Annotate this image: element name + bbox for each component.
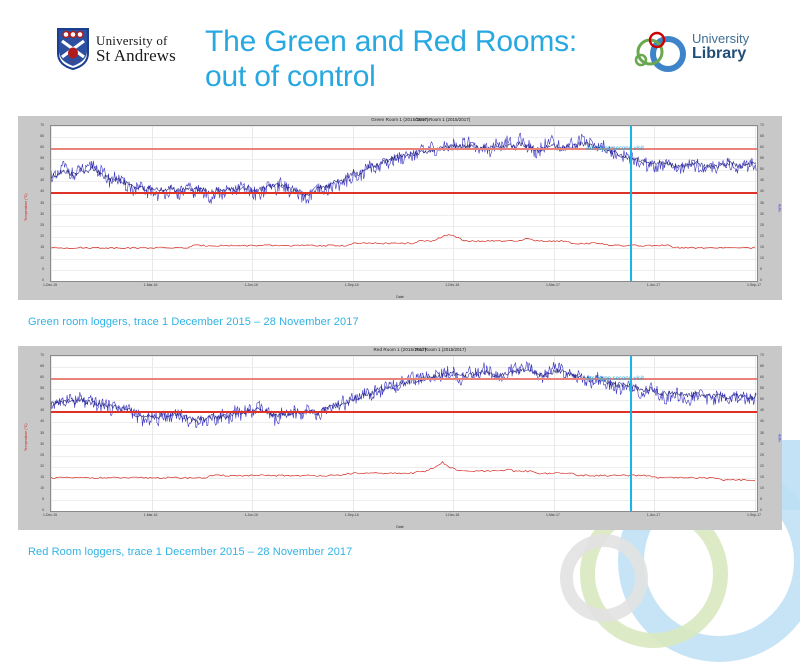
gridline-horizontal bbox=[51, 281, 757, 282]
y-axis-tick-label: 20 bbox=[18, 234, 44, 238]
y2-axis-tick-label: 15 bbox=[760, 475, 782, 479]
y-axis-tick-label: 60 bbox=[18, 145, 44, 149]
chart-panel-green-room: Green Room 1 (2015/2017) Green Room 1 (2… bbox=[18, 116, 782, 300]
x-axis-title: Date bbox=[18, 525, 782, 529]
x-axis-tick-label: 1-Jun-16 bbox=[244, 283, 257, 287]
x-axis-tick-label: 1-Sep-17 bbox=[747, 513, 761, 517]
y2-axis-tick-label: 20 bbox=[760, 464, 782, 468]
y2-axis-tick-label: 15 bbox=[760, 245, 782, 249]
annotation-label: Architype second visit bbox=[586, 376, 644, 382]
x-axis-tick-label: 1-Mar-17 bbox=[546, 513, 560, 517]
y-axis-tick-label: 35 bbox=[18, 201, 44, 205]
chart-title-green-room: Green Room 1 (2015/2017) bbox=[18, 117, 782, 122]
y-axis-tick-label: 45 bbox=[18, 178, 44, 182]
y-axis-tick-label: 20 bbox=[18, 464, 44, 468]
library-logo: University Library bbox=[630, 28, 755, 76]
y-axis-tick-label: 60 bbox=[18, 375, 44, 379]
y2-axis-tick-label: 10 bbox=[760, 256, 782, 260]
series-line bbox=[51, 369, 756, 423]
y-axis-tick-label: 25 bbox=[18, 223, 44, 227]
x-axis-tick-label: 1-Jun-16 bbox=[244, 513, 257, 517]
y-axis-tick-label: 55 bbox=[18, 156, 44, 160]
y2-axis-tick-label: 65 bbox=[760, 134, 782, 138]
y2-axis-title: %RH bbox=[778, 203, 782, 211]
y2-axis-tick-label: 0 bbox=[760, 508, 782, 512]
overlapping-circles-icon bbox=[630, 30, 692, 74]
y2-axis-tick-label: 70 bbox=[760, 123, 782, 127]
y-axis-tick-label: 40 bbox=[18, 419, 44, 423]
y-axis-tick-label: 0 bbox=[18, 508, 44, 512]
y-axis-tick-label: 40 bbox=[18, 189, 44, 193]
y-axis-tick-label: 10 bbox=[18, 256, 44, 260]
page-title-line2: out of control bbox=[205, 59, 615, 94]
chart-panel-red-room: Red Room 1 (2015/2017) Red Room 1 (2015/… bbox=[18, 346, 782, 530]
series-line bbox=[51, 362, 756, 428]
university-wordmark-line2: St Andrews bbox=[96, 47, 176, 64]
x-axis-tick-label: 1-Mar-17 bbox=[546, 283, 560, 287]
y-axis-tick-label: 65 bbox=[18, 364, 44, 368]
y-axis-tick-label: 30 bbox=[18, 212, 44, 216]
y-axis-tick-label: 15 bbox=[18, 245, 44, 249]
y2-axis-tick-label: 0 bbox=[760, 278, 782, 282]
x-axis-title: Date bbox=[18, 295, 782, 299]
y2-axis-tick-label: 40 bbox=[760, 419, 782, 423]
y-axis-tick-label: 5 bbox=[18, 267, 44, 271]
x-axis-tick-label: 1-Dec-15 bbox=[43, 283, 57, 287]
y-axis-tick-label: 0 bbox=[18, 278, 44, 282]
y-axis-tick-label: 50 bbox=[18, 167, 44, 171]
library-wordmark-line2: Library bbox=[692, 46, 749, 63]
y2-axis-tick-label: 45 bbox=[760, 178, 782, 182]
gridline-horizontal bbox=[51, 511, 757, 512]
caption-green-room: Green room loggers, trace 1 December 201… bbox=[28, 316, 359, 328]
y2-axis-tick-label: 25 bbox=[760, 223, 782, 227]
university-wordmark: University of St Andrews bbox=[96, 34, 176, 64]
y2-axis-tick-label: 5 bbox=[760, 267, 782, 271]
y2-axis-tick-label: 30 bbox=[760, 442, 782, 446]
y2-axis-tick-label: 65 bbox=[760, 364, 782, 368]
slide-header: University of St Andrews The Green and R… bbox=[0, 0, 800, 108]
y2-axis-tick-label: 55 bbox=[760, 156, 782, 160]
x-axis-tick-label: 1-Dec-16 bbox=[445, 283, 459, 287]
y-axis-tick-label: 10 bbox=[18, 486, 44, 490]
reference-line bbox=[51, 192, 757, 194]
y-axis-title: Temperature (°C) bbox=[24, 193, 28, 221]
y-axis-tick-label: 15 bbox=[18, 475, 44, 479]
y-axis-tick-label: 45 bbox=[18, 408, 44, 412]
caption-red-room: Red Room loggers, trace 1 December 2015 … bbox=[28, 546, 352, 558]
y2-axis-tick-label: 50 bbox=[760, 167, 782, 171]
y2-axis-tick-label: 40 bbox=[760, 189, 782, 193]
reference-line bbox=[51, 378, 757, 380]
y-axis-tick-label: 35 bbox=[18, 431, 44, 435]
x-axis-tick-label: 1-Dec-16 bbox=[445, 513, 459, 517]
y-axis-tick-label: 25 bbox=[18, 453, 44, 457]
page-title: The Green and Red Rooms: out of control bbox=[205, 24, 615, 94]
library-wordmark-line1: University bbox=[692, 32, 749, 46]
reference-line bbox=[51, 411, 757, 413]
y-axis-tick-label: 55 bbox=[18, 386, 44, 390]
x-axis-tick-label: 1-Jun-17 bbox=[647, 513, 660, 517]
y2-axis-tick-label: 5 bbox=[760, 497, 782, 501]
page-title-line1: The Green and Red Rooms: bbox=[205, 24, 615, 59]
x-axis-tick-label: 1-Mar-16 bbox=[144, 283, 158, 287]
chart-title-green-room-dup: Green Room 1 (2015/2017) bbox=[415, 117, 470, 122]
x-axis-tick-label: 1-Mar-16 bbox=[144, 513, 158, 517]
university-logo: University of St Andrews bbox=[56, 26, 196, 72]
plot-area-red-room: Architype second visit bbox=[50, 355, 758, 512]
x-axis-tick-label: 1-Dec-15 bbox=[43, 513, 57, 517]
y2-axis-tick-label: 60 bbox=[760, 375, 782, 379]
y2-axis-tick-label: 25 bbox=[760, 453, 782, 457]
y-axis-tick-label: 50 bbox=[18, 397, 44, 401]
y2-axis-title: %RH bbox=[778, 433, 782, 441]
x-axis-tick-label: 1-Jun-17 bbox=[647, 283, 660, 287]
y2-axis-tick-label: 45 bbox=[760, 408, 782, 412]
plot-area-green-room: Architype second visit bbox=[50, 125, 758, 282]
chart-title-red-room-dup: Red Room 1 (2015/2017) bbox=[415, 347, 466, 352]
y2-axis-tick-label: 70 bbox=[760, 353, 782, 357]
y-axis-tick-label: 70 bbox=[18, 353, 44, 357]
y-axis-title: Temperature (°C) bbox=[24, 423, 28, 451]
y-axis-tick-label: 65 bbox=[18, 134, 44, 138]
chart-title-red-room: Red Room 1 (2015/2017) bbox=[18, 347, 782, 352]
watermark-ring-gray bbox=[560, 534, 648, 622]
y-axis-tick-label: 30 bbox=[18, 442, 44, 446]
y2-axis-tick-label: 55 bbox=[760, 386, 782, 390]
y-axis-tick-label: 5 bbox=[18, 497, 44, 501]
st-andrews-crest-icon bbox=[56, 27, 90, 71]
series-line bbox=[51, 462, 755, 481]
y-axis-tick-label: 70 bbox=[18, 123, 44, 127]
y2-axis-tick-label: 20 bbox=[760, 234, 782, 238]
reference-line bbox=[51, 148, 757, 150]
y2-axis-tick-label: 30 bbox=[760, 212, 782, 216]
library-wordmark: University Library bbox=[692, 32, 749, 62]
y2-axis-tick-label: 60 bbox=[760, 145, 782, 149]
y2-axis-tick-label: 50 bbox=[760, 397, 782, 401]
annotation-label: Architype second visit bbox=[586, 146, 644, 152]
x-axis-tick-label: 1-Sep-16 bbox=[345, 513, 359, 517]
y2-axis-tick-label: 10 bbox=[760, 486, 782, 490]
series-line bbox=[51, 235, 755, 249]
x-axis-tick-label: 1-Sep-16 bbox=[345, 283, 359, 287]
x-axis-tick-label: 1-Sep-17 bbox=[747, 283, 761, 287]
